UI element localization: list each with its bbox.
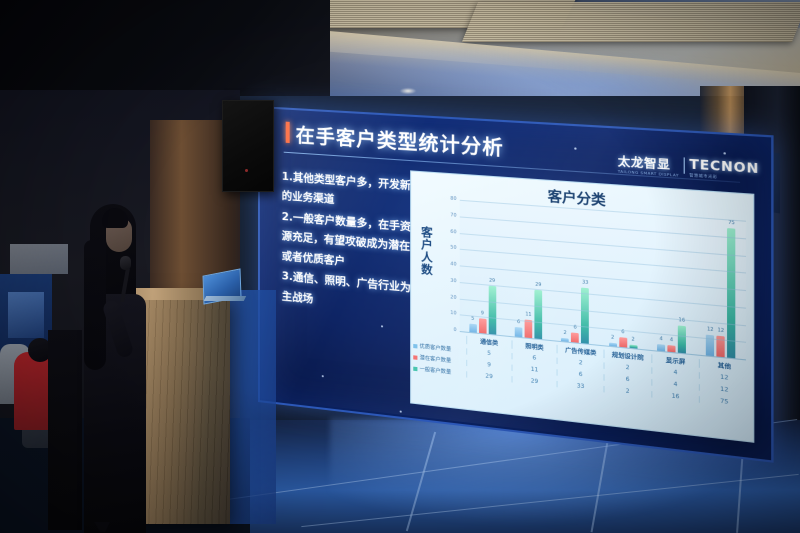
led-video-wall[interactable]: 在手客户类型统计分析 太龙智显 TAILONG SMART DISPLAY TE… bbox=[258, 106, 769, 467]
background-panel bbox=[10, 244, 68, 274]
laptop-keyboard bbox=[204, 296, 246, 301]
laptop[interactable] bbox=[203, 272, 245, 302]
monitor-screen-content bbox=[8, 292, 44, 338]
audience-member bbox=[48, 330, 82, 530]
presenter bbox=[84, 204, 144, 529]
speaker-indicator-led bbox=[245, 169, 248, 172]
conference-room-photo: 在手客户类型统计分析 太龙智显 TAILONG SMART DISPLAY TE… bbox=[0, 0, 800, 533]
wall-speaker bbox=[222, 100, 274, 192]
presenter-long-hair bbox=[84, 240, 106, 370]
presenter-fringe bbox=[102, 208, 128, 228]
ceiling-air-vent bbox=[462, 2, 800, 42]
microphone bbox=[120, 256, 131, 270]
screen-glare bbox=[258, 106, 769, 458]
ceiling-downlight bbox=[400, 88, 416, 94]
